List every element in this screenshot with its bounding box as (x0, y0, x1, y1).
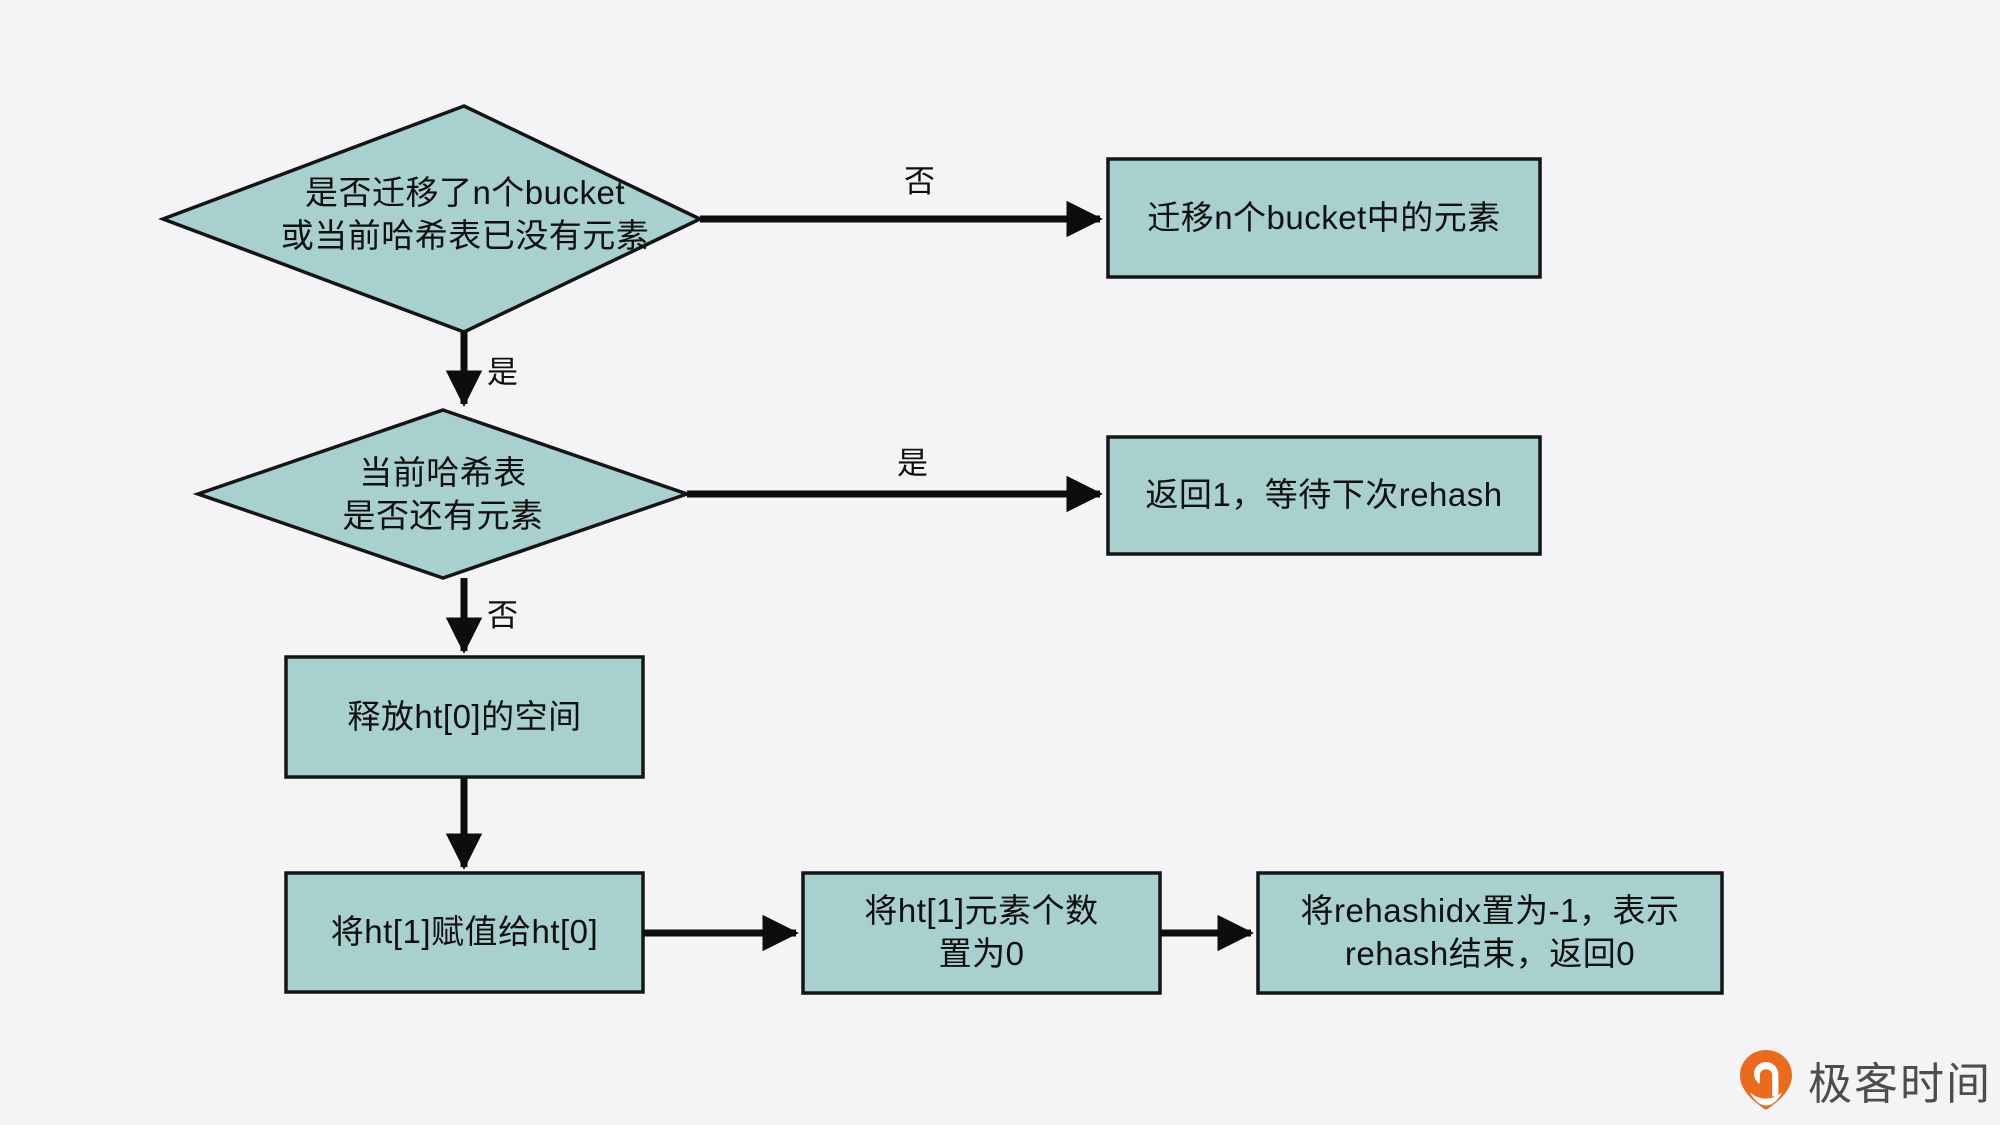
brand-name: 极客时间 (1808, 1048, 1992, 1112)
edge-label-yes-to-return-1: 是 (897, 448, 928, 479)
node-process-free-ht0[interactable] (286, 657, 643, 777)
node-process-reset-ht1-count[interactable] (803, 873, 1160, 993)
node-process-rehashidx-minus-1[interactable] (1258, 873, 1722, 993)
flowchart-canvas: 是否迁移了n个bucket 或当前哈希表已没有元素 迁移n个bucket中的元素… (0, 0, 2000, 1125)
brand-logo: 极客时间 (1738, 1048, 1992, 1112)
edge-label-no-to-migrate: 否 (904, 166, 935, 197)
flowchart-shapes-layer (0, 0, 2000, 1125)
node-process-assign-ht1-to-ht0[interactable] (286, 873, 643, 992)
geekbang-pin-icon (1738, 1049, 1794, 1111)
edge-label-yes-to-second-decision: 是 (487, 357, 518, 388)
node-process-migrate-n-buckets[interactable] (1108, 159, 1540, 277)
node-decision-migrated-n-buckets[interactable] (163, 106, 700, 332)
node-decision-table-has-elements[interactable] (198, 410, 687, 578)
edge-label-no-to-free-ht0: 否 (487, 600, 518, 631)
node-process-return-1-wait[interactable] (1108, 437, 1540, 554)
